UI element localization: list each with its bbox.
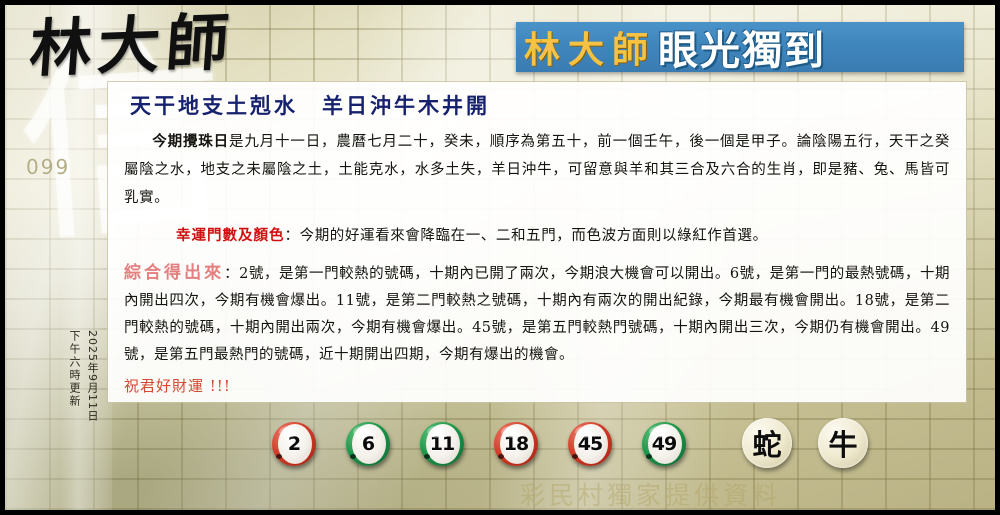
- ball-gloss: [501, 426, 519, 438]
- ball-dot: [572, 454, 578, 459]
- ball-gloss: [649, 426, 667, 438]
- ball-gloss: [353, 426, 371, 438]
- ball-dot: [276, 454, 282, 459]
- ball-dot: [424, 454, 430, 459]
- ball-gloss: [279, 426, 297, 438]
- poster-root: 信 099 林大師 林大師 眼光獨到 天干地支土剋水 羊日沖牛木井開 今期攪珠日…: [0, 0, 1000, 515]
- poster-frame: [0, 0, 1000, 515]
- ball-gloss: [427, 426, 445, 438]
- ball-dot: [350, 454, 356, 459]
- ball-gloss: [575, 426, 593, 438]
- ball-dot: [498, 454, 504, 459]
- ball-dot: [646, 454, 652, 459]
